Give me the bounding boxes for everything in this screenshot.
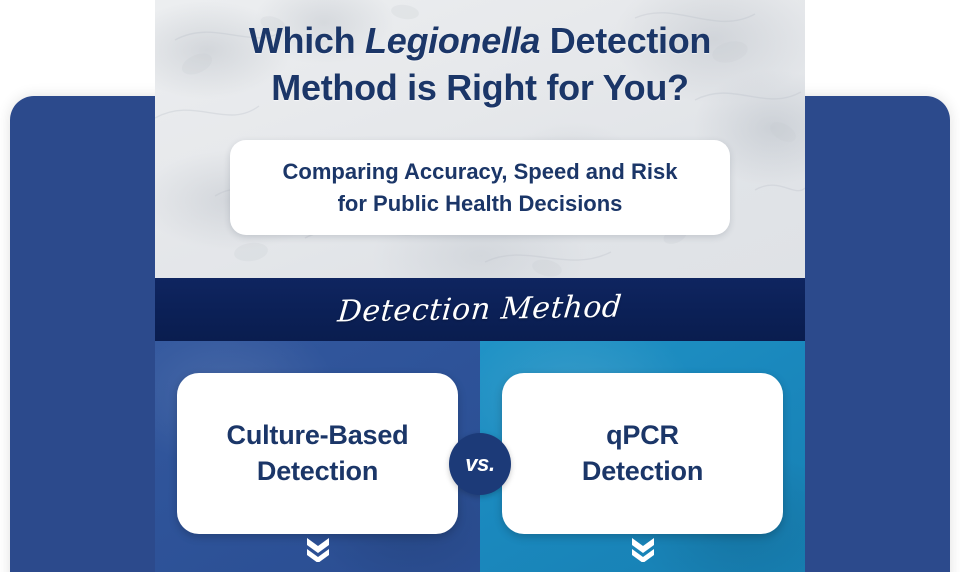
header-section: Which Legionella Detection Method is Rig… bbox=[155, 0, 805, 278]
method-label-line-2: Detection bbox=[227, 454, 409, 490]
page-title: Which Legionella Detection Method is Rig… bbox=[155, 18, 805, 112]
subtitle-text: Comparing Accuracy, Speed and Risk for P… bbox=[267, 156, 694, 220]
method-label-line-1: Culture-Based bbox=[227, 418, 409, 454]
method-card-culture-based[interactable]: Culture-Based Detection bbox=[177, 373, 458, 534]
method-card-label-culture-based: Culture-Based Detection bbox=[215, 418, 421, 490]
method-card-label-qpcr: qPCR Detection bbox=[570, 418, 715, 490]
page-title-text-a: Which bbox=[249, 20, 365, 61]
method-column-qpcr[interactable]: qPCR Detection bbox=[480, 341, 805, 572]
method-label-line-1: qPCR bbox=[582, 418, 703, 454]
section-banner-label: Detection Method bbox=[336, 290, 623, 330]
page-title-line-2: Method is Right for You? bbox=[155, 65, 805, 112]
page-title-text-b: Detection bbox=[540, 20, 711, 61]
content-column: Which Legionella Detection Method is Rig… bbox=[155, 0, 805, 572]
method-column-culture-based[interactable]: Culture-Based Detection bbox=[155, 341, 480, 572]
page-title-species: Legionella bbox=[365, 20, 540, 61]
subtitle-line-2: for Public Health Decisions bbox=[283, 188, 678, 220]
chevron-double-down-icon-qpcr bbox=[628, 536, 658, 562]
subtitle-card: Comparing Accuracy, Speed and Risk for P… bbox=[230, 140, 730, 235]
section-banner: Detection Method bbox=[155, 278, 805, 341]
vs-badge-label: vs. bbox=[465, 451, 494, 477]
vs-badge: vs. bbox=[449, 433, 511, 495]
subtitle-line-1: Comparing Accuracy, Speed and Risk bbox=[283, 156, 678, 188]
comparison-row: Culture-Based Detection qPCR Detecti bbox=[155, 341, 805, 572]
method-card-qpcr[interactable]: qPCR Detection bbox=[502, 373, 783, 534]
infographic-canvas: Which Legionella Detection Method is Rig… bbox=[0, 0, 960, 572]
chevron-double-down-icon-culture-based bbox=[303, 536, 333, 562]
method-label-line-2: Detection bbox=[582, 454, 703, 490]
page-title-line-1: Which Legionella Detection bbox=[155, 18, 805, 65]
